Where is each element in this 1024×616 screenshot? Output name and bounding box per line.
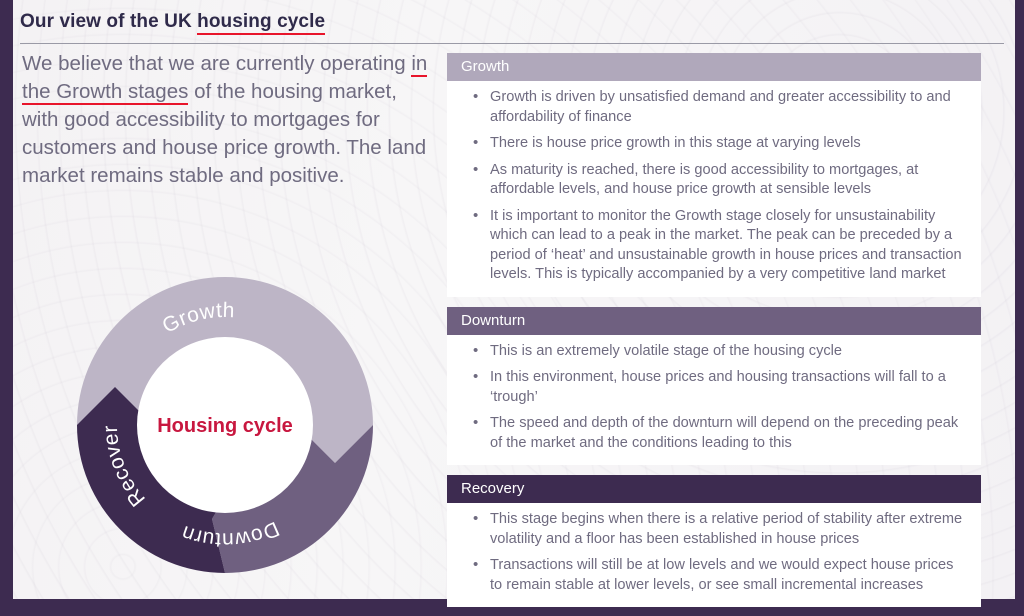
header-divider [20, 43, 1004, 44]
stage-panels: Growth Growth is driven by unsatisfied d… [447, 53, 981, 616]
panel-downturn-bullets: This is an extremely volatile stage of t… [459, 342, 969, 454]
housing-cycle-diagram: Growth Downturn Recovery Housing cycle [55, 255, 395, 595]
panel-growth-bullets: Growth is driven by unsatisfied demand a… [459, 88, 969, 285]
panel-downturn-body: This is an extremely volatile stage of t… [447, 335, 981, 466]
panel-growth: Growth Growth is driven by unsatisfied d… [447, 53, 981, 297]
cycle-donut-svg: Growth Downturn Recovery Housing cycle [55, 255, 395, 595]
page-title-emphasis: housing cycle [197, 11, 325, 35]
left-accent-bar [0, 0, 13, 616]
list-item: As maturity is reached, there is good ac… [459, 161, 969, 200]
panel-recovery-bullets: This stage begins when there is a relati… [459, 510, 969, 595]
panel-growth-title: Growth [447, 53, 981, 81]
list-item: It is important to monitor the Growth st… [459, 207, 969, 285]
panel-downturn: Downturn This is an extremely volatile s… [447, 307, 981, 466]
list-item: Transactions will still be at low levels… [459, 556, 969, 595]
page-title-plain: Our view of the UK [20, 11, 197, 32]
slide: Our view of the UK housing cycle We beli… [0, 0, 1024, 616]
intro-block: We believe that we are currently operati… [22, 50, 432, 190]
panel-recovery-body: This stage begins when there is a relati… [447, 503, 981, 607]
list-item: Growth is driven by unsatisfied demand a… [459, 88, 969, 127]
panel-growth-body: Growth is driven by unsatisfied demand a… [447, 81, 981, 297]
list-item: The speed and depth of the downturn will… [459, 414, 969, 453]
cycle-center-label: Housing cycle [157, 415, 293, 437]
panel-downturn-title: Downturn [447, 307, 981, 335]
list-item: There is house price growth in this stag… [459, 134, 969, 154]
list-item: This is an extremely volatile stage of t… [459, 342, 969, 362]
intro-paragraph: We believe that we are currently operati… [22, 50, 432, 190]
slide-header: Our view of the UK housing cycle [20, 11, 1004, 33]
panel-recovery-title: Recovery [447, 475, 981, 503]
list-item: This stage begins when there is a relati… [459, 510, 969, 549]
panel-recovery: Recovery This stage begins when there is… [447, 475, 981, 607]
page-title: Our view of the UK housing cycle [20, 11, 1004, 33]
list-item: In this environment, house prices and ho… [459, 368, 969, 407]
right-accent-bar [1015, 0, 1024, 616]
intro-text-part1: We believe that we are currently operati… [22, 52, 411, 75]
